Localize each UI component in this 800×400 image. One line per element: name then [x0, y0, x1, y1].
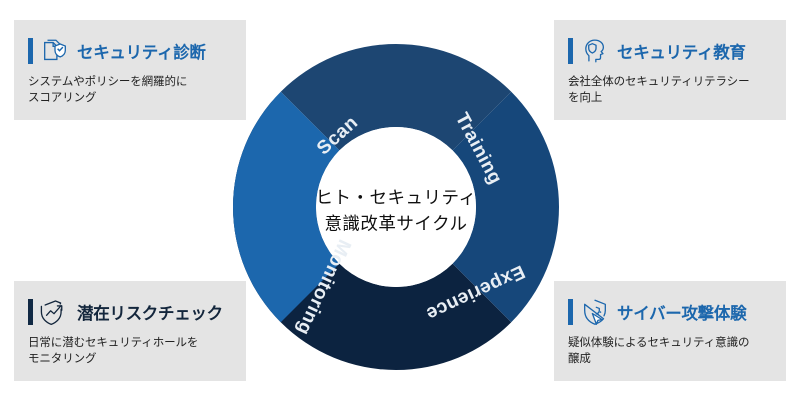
card-body: 日常に潜むセキュリティホールを モニタリング [28, 335, 230, 368]
cycle-center-title-line-1: ヒト・セキュリティ [316, 188, 477, 208]
card-header: 潜在リスクチェック [28, 295, 230, 329]
card-security-education: セキュリティ教育 会社全体のセキュリティリテラシー を向上 [554, 20, 786, 120]
card-body: 疑似体験によるセキュリティ意識の 醸成 [568, 335, 770, 368]
accent-bar [28, 38, 33, 64]
card-cyber-attack-experience: サイバー攻撃体験 疑似体験によるセキュリティ意識の 醸成 [554, 281, 786, 381]
infographic-canvas: セキュリティ診断 システムやポリシーを網羅的に スコアリング セキュリティ教育 … [0, 0, 800, 400]
card-body-line-2: モニタリング [28, 351, 230, 367]
cycle-center-title-line-2: 意識改革サイクル [324, 214, 467, 234]
card-header: サイバー攻撃体験 [568, 295, 770, 329]
card-body: 会社全体のセキュリティリテラシー を向上 [568, 74, 770, 107]
card-title: サイバー攻撃体験 [617, 300, 746, 324]
cycle-diagram: Scan Training Experience Monitoring ヒト・セ… [233, 44, 559, 370]
card-title: セキュリティ診断 [77, 39, 206, 63]
card-security-diagnosis: セキュリティ診断 システムやポリシーを網羅的に スコアリング [14, 20, 246, 120]
card-body-line-2: を向上 [568, 90, 770, 106]
card-body-line-1: システムやポリシーを網羅的に [28, 74, 230, 90]
accent-bar [568, 299, 573, 325]
card-body: システムやポリシーを網羅的に スコアリング [28, 74, 230, 107]
card-title: 潜在リスクチェック [77, 300, 223, 324]
card-body-line-1: 会社全体のセキュリティリテラシー [568, 74, 770, 90]
card-latent-risk-check: 潜在リスクチェック 日常に潜むセキュリティホールを モニタリング [14, 281, 246, 381]
card-body-line-2: 醸成 [568, 351, 770, 367]
accent-bar [28, 299, 33, 325]
shield-cursor-icon [580, 297, 610, 327]
card-body-line-2: スコアリング [28, 90, 230, 106]
head-shield-icon [580, 36, 610, 66]
accent-bar [568, 38, 573, 64]
card-body-line-1: 疑似体験によるセキュリティ意識の [568, 335, 770, 351]
card-header: セキュリティ教育 [568, 34, 770, 68]
shield-trend-arrow-icon [40, 297, 70, 327]
card-header: セキュリティ診断 [28, 34, 230, 68]
card-title: セキュリティ教育 [617, 39, 746, 63]
document-check-shield-icon [40, 36, 70, 66]
card-body-line-1: 日常に潜むセキュリティホールを [28, 335, 230, 351]
